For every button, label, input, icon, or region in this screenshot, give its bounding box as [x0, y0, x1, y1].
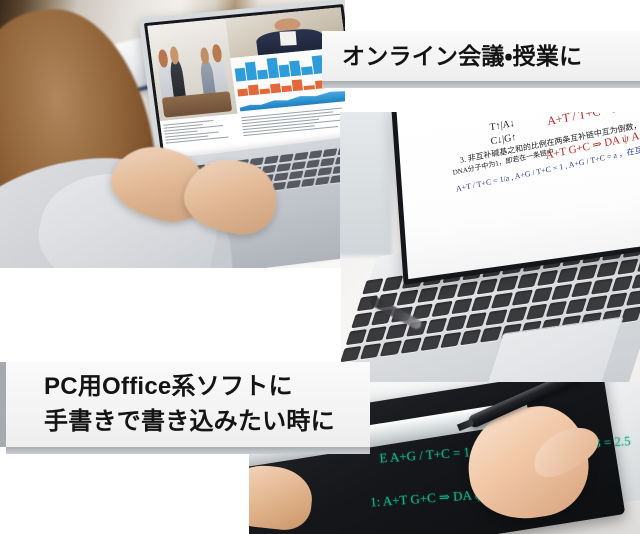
collage-root: T↑|A↓ C↓|G↑ A+T / T+C = A/S ⇒ 右 A+G / T+…	[0, 0, 640, 534]
banner-online-meeting: オンライン会議・授業に	[322, 31, 640, 81]
panel-laptopnotes: T↑|A↓ C↓|G↑ A+T / T+C = A/S ⇒ 右 A+G / T+…	[340, 112, 640, 382]
banner-handwriting: PC用Office系ソフトに 手書きで書き込みたい時に	[0, 362, 370, 447]
banner-handwriting-line-1: 手書きで書き込みたい時に	[44, 405, 370, 440]
person-b-head	[170, 46, 180, 64]
participant-tile-group	[147, 18, 237, 121]
banner-handwriting-line-0: PC用Office系ソフトに	[44, 370, 370, 405]
note-page: T↑|A↓ C↓|G↑ A+T / T+C = A/S ⇒ 右 A+G / T+…	[397, 112, 640, 279]
panel-videocall	[0, 0, 345, 270]
shirt-detail	[280, 31, 297, 45]
video-call-screen	[147, 7, 345, 158]
note-line-0: T↑|A↓	[489, 118, 515, 133]
wall-strip	[340, 112, 392, 256]
laptop-bezel	[144, 4, 345, 162]
banner-online-meeting-line-0: オンライン会議・授業に	[342, 45, 582, 68]
